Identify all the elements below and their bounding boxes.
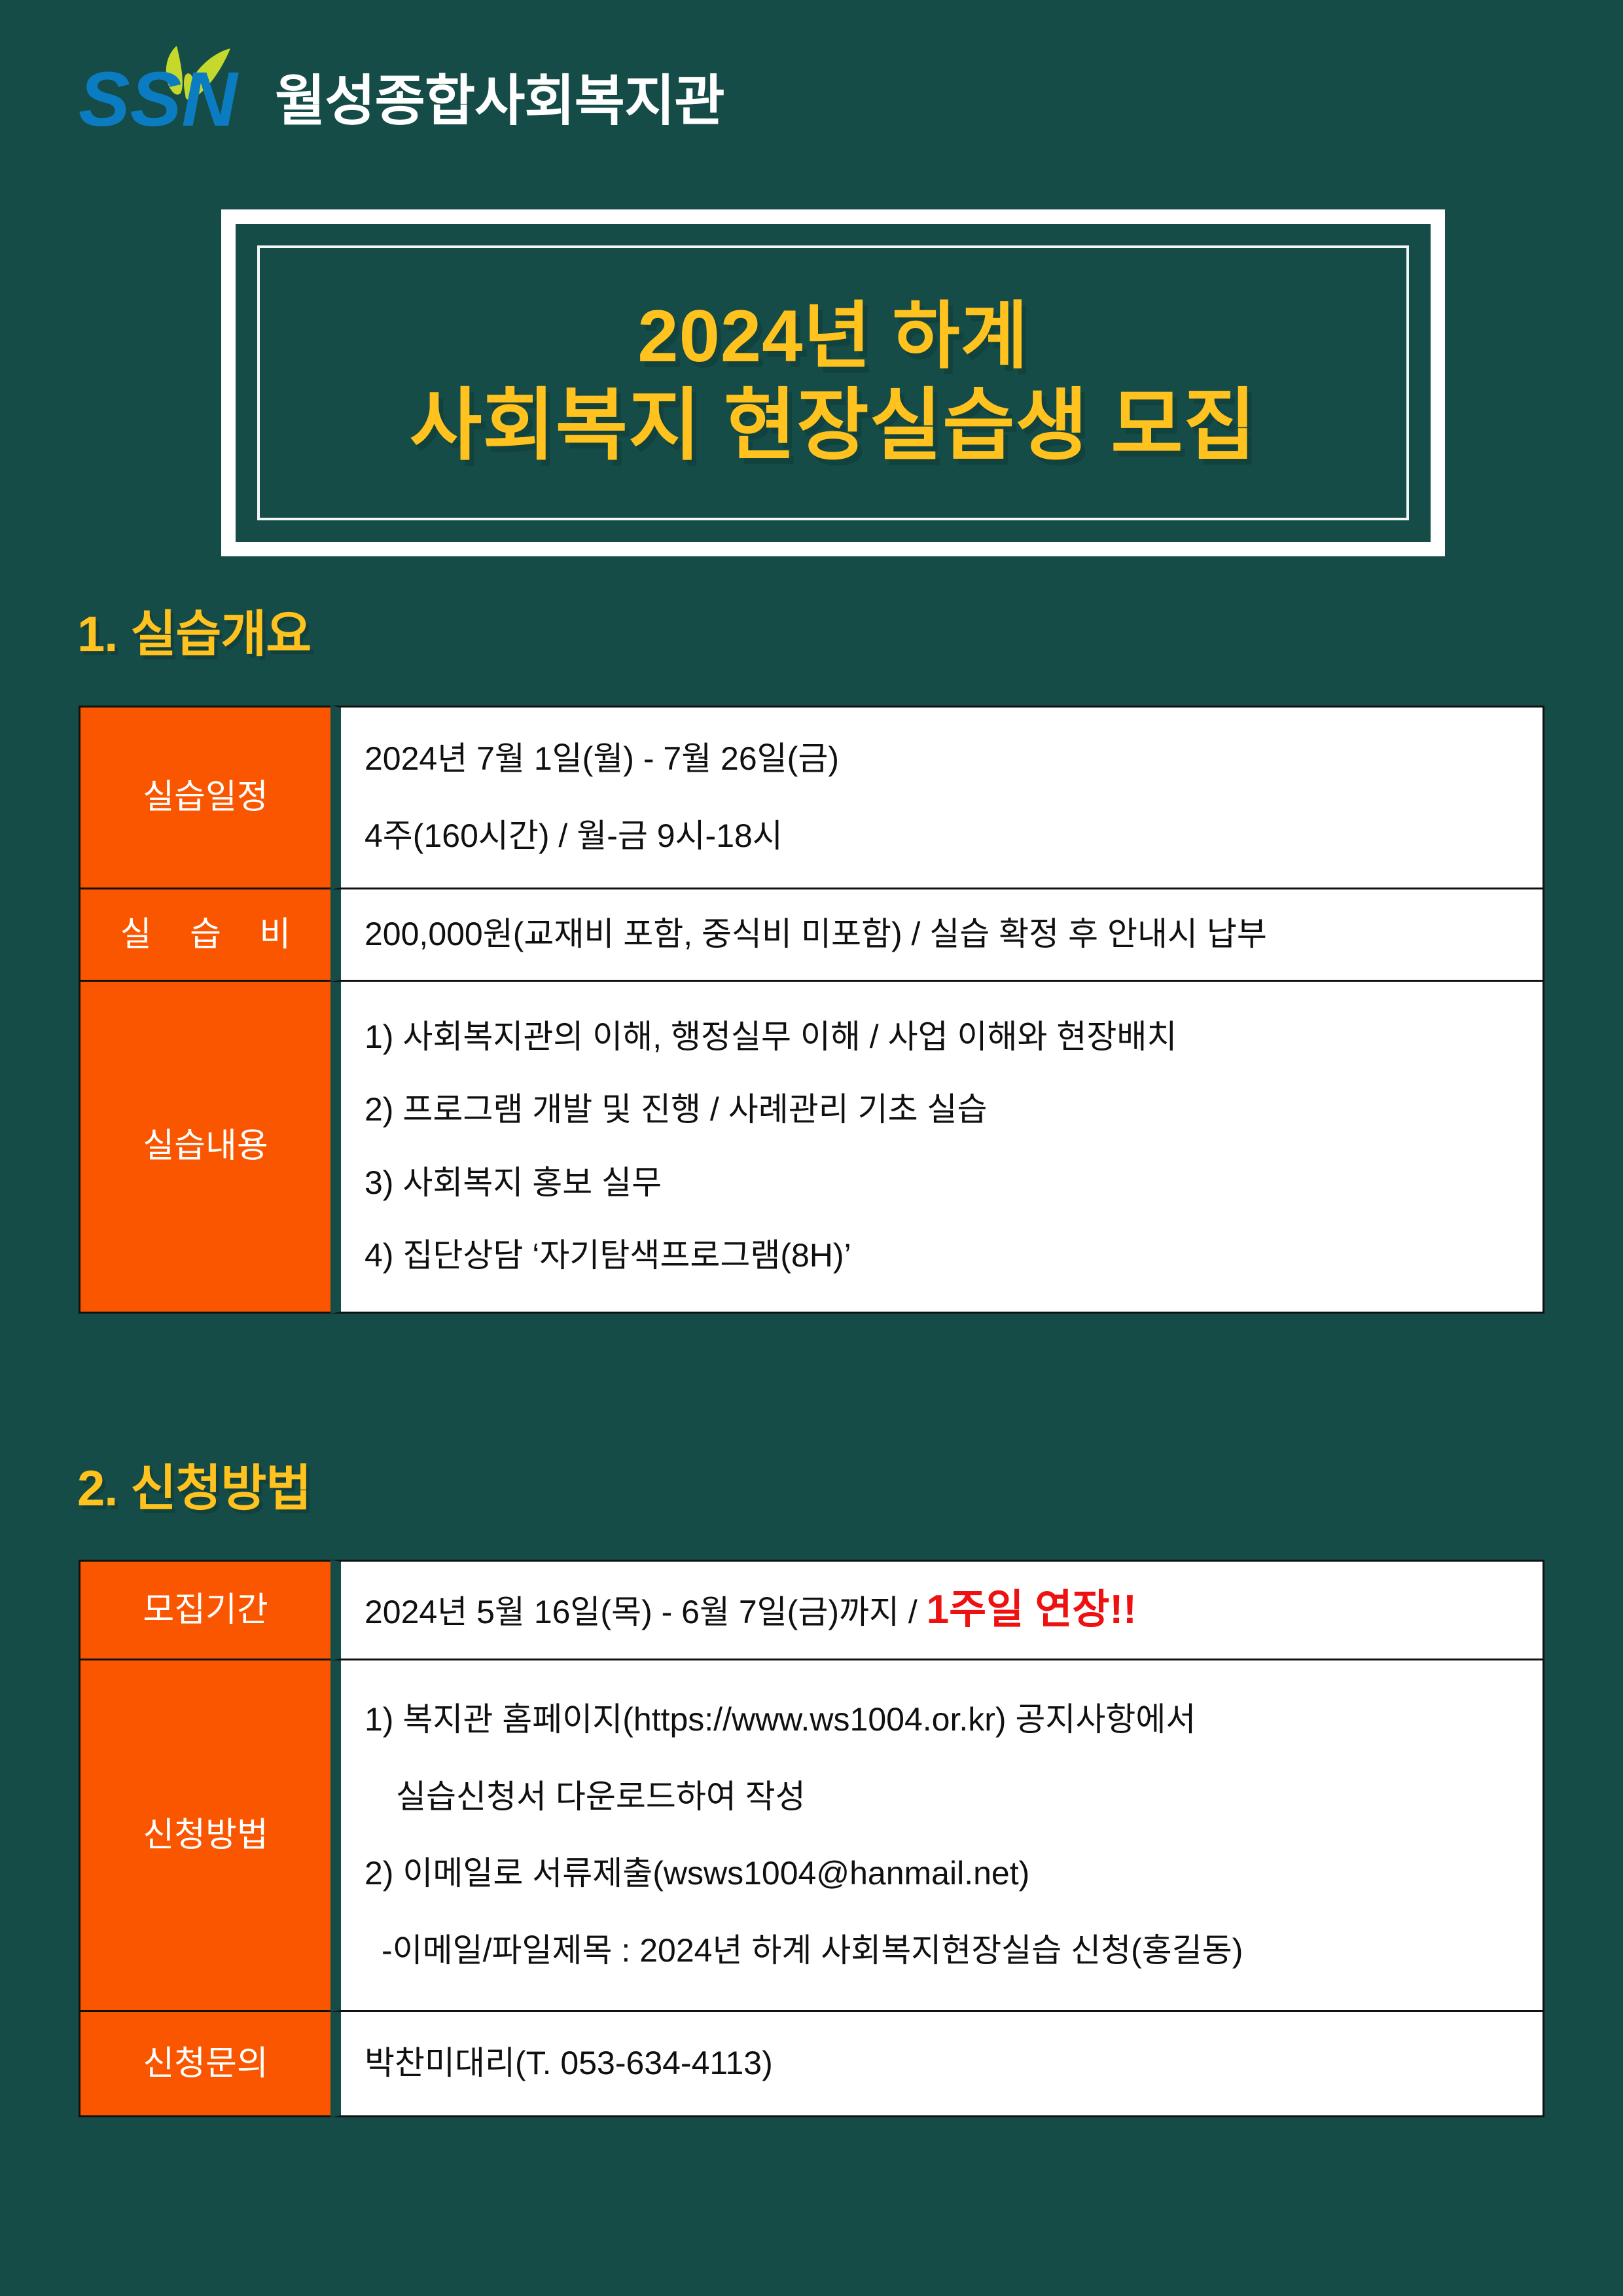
method-line-4: -이메일/파일제목 : 2024년 하계 사회복지현장실습 신청(홍길동) xyxy=(365,1926,1524,1977)
content-line-4: 4) 집단상담 ‘자기탐색프로그램(8H)’ xyxy=(365,1230,1524,1282)
label-inquiry: 신청문의 xyxy=(79,2012,330,2117)
organization-name: 월성종합사회복지관 xyxy=(275,73,724,128)
content-line-3: 3) 사회복지 홍보 실무 xyxy=(365,1158,1524,1209)
overview-table: 실습일정 2024년 7월 1일(월) - 7월 26일(금) 4주(160시간… xyxy=(79,706,1544,1314)
method-line-2: 실습신청서 다운로드하여 작성 xyxy=(365,1772,1524,1823)
method-line-1: 1) 복지관 홈페이지(https://www.ws1004.or.kr) 공지… xyxy=(365,1695,1524,1746)
value-method: 1) 복지관 홈페이지(https://www.ws1004.or.kr) 공지… xyxy=(330,1660,1544,2012)
method-line-3: 2) 이메일로 서류제출(wsws1004@hanmail.net) xyxy=(365,1848,1524,1899)
schedule-line-2: 4주(160시간) / 월-금 9시-18시 xyxy=(365,811,1524,862)
label-schedule: 실습일정 xyxy=(79,706,330,889)
svg-text:SSN: SSN xyxy=(79,56,239,139)
value-inquiry: 박찬미대리(T. 053-634-4113) xyxy=(330,2012,1544,2117)
table-row-content: 실습내용 1) 사회복지관의 이해, 행정실무 이해 / 사업 이해와 현장배치… xyxy=(79,982,1544,1314)
content-line-1: 1) 사회복지관의 이해, 행정실무 이해 / 사업 이해와 현장배치 xyxy=(365,1012,1524,1063)
period-extension-badge: 1주일 연장!! xyxy=(927,1587,1137,1632)
content-line-2: 2) 프로그램 개발 및 진행 / 사례관리 기초 실습 xyxy=(365,1085,1524,1136)
label-period: 모집기간 xyxy=(79,1560,330,1660)
section-heading-overview: 1. 실습개요 xyxy=(77,610,311,660)
title-banner: 2024년 하계 사회복지 현장실습생 모집 xyxy=(221,209,1445,556)
table-row-method: 신청방법 1) 복지관 홈페이지(https://www.ws1004.or.k… xyxy=(79,1660,1544,2012)
schedule-line-1: 2024년 7월 1일(월) - 7월 26일(금) xyxy=(365,734,1524,785)
poster-title-line-2: 사회복지 현장실습생 모집 xyxy=(410,380,1257,473)
value-period: 2024년 5월 16일(목) - 6월 7일(금)까지 / 1주일 연장!! xyxy=(330,1560,1544,1660)
poster-title-line-1: 2024년 하계 xyxy=(637,293,1028,380)
value-content: 1) 사회복지관의 이해, 행정실무 이해 / 사업 이해와 현장배치 2) 프… xyxy=(330,982,1544,1314)
title-banner-inner: 2024년 하계 사회복지 현장실습생 모집 xyxy=(236,224,1431,542)
label-method: 신청방법 xyxy=(79,1660,330,2012)
table-row-period: 모집기간 2024년 5월 16일(목) - 6월 7일(금)까지 / 1주일 … xyxy=(79,1560,1544,1660)
table-row-inquiry: 신청문의 박찬미대리(T. 053-634-4113) xyxy=(79,2012,1544,2117)
section-heading-apply: 2. 신청방법 xyxy=(77,1464,311,1514)
table-row-schedule: 실습일정 2024년 7월 1일(월) - 7월 26일(금) 4주(160시간… xyxy=(79,706,1544,889)
title-banner-rule: 2024년 하계 사회복지 현장실습생 모집 xyxy=(257,245,1409,520)
ssn-logo: SSN xyxy=(79,34,268,139)
value-fee: 200,000원(교재비 포함, 중식비 미포함) / 실습 확정 후 안내시 … xyxy=(330,889,1544,982)
apply-table: 모집기간 2024년 5월 16일(목) - 6월 7일(금)까지 / 1주일 … xyxy=(79,1560,1544,2117)
value-schedule: 2024년 7월 1일(월) - 7월 26일(금) 4주(160시간) / 월… xyxy=(330,706,1544,889)
label-content: 실습내용 xyxy=(79,982,330,1314)
label-fee: 실 습 비 xyxy=(79,889,330,982)
sprout-leaf-icon: SSN xyxy=(79,34,268,139)
page-header: SSN 월성종합사회복지관 xyxy=(79,27,724,139)
table-row-fee: 실 습 비 200,000원(교재비 포함, 중식비 미포함) / 실습 확정 … xyxy=(79,889,1544,982)
period-line: 2024년 5월 16일(목) - 6월 7일(금)까지 / 1주일 연장!! xyxy=(365,1579,1524,1641)
fee-line-1: 200,000원(교재비 포함, 중식비 미포함) / 실습 확정 후 안내시 … xyxy=(365,909,1524,960)
period-text: 2024년 5월 16일(목) - 6월 7일(금)까지 / xyxy=(365,1594,927,1630)
inquiry-line-1: 박찬미대리(T. 053-634-4113) xyxy=(365,2038,1524,2089)
